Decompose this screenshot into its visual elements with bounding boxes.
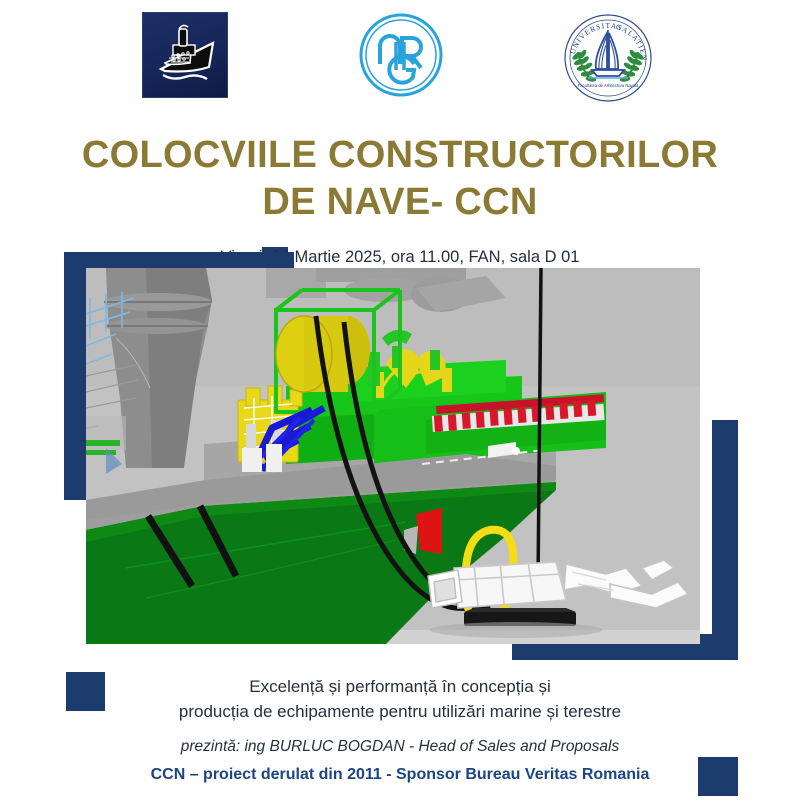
frame-accent-bottom-right xyxy=(712,420,738,660)
ship-icon xyxy=(143,13,227,97)
arg-monogram-logo xyxy=(358,12,444,98)
tagline-block: Excelență și performanță în concepția și… xyxy=(0,674,800,724)
offshore-vessel-cad-render xyxy=(86,268,700,644)
university-seal-icon: UNIVERSITAS GALATIENSIS xyxy=(562,12,654,104)
ship-crest-logo xyxy=(142,12,228,98)
title-line-2: DE NAVE- CCN xyxy=(0,179,800,226)
university-seal-logo: UNIVERSITAS GALATIENSIS xyxy=(562,12,654,104)
vessel-render-illustration xyxy=(86,268,700,644)
circular-monogram-icon xyxy=(358,12,444,98)
sponsor-line: CCN – proiect derulat din 2011 - Sponsor… xyxy=(0,766,800,784)
tagline-line-2: producția de echipamente pentru utilizăr… xyxy=(0,699,800,724)
presenter-line: prezintă: ing BURLUC BOGDAN - Head of Sa… xyxy=(0,738,800,756)
logo-row: UNIVERSITAS GALATIENSIS xyxy=(0,12,800,110)
title-line-1: COLOCVIILE CONSTRUCTORILOR xyxy=(0,132,800,179)
page-title: COLOCVIILE CONSTRUCTORILOR DE NAVE- CCN xyxy=(0,132,800,226)
poster-canvas: UNIVERSITAS GALATIENSIS xyxy=(0,0,800,801)
seal-bottom-text: Facultatea de Arhitectura Navala xyxy=(578,83,639,88)
tagline-line-1: Excelență și performanță în concepția și xyxy=(0,674,800,699)
